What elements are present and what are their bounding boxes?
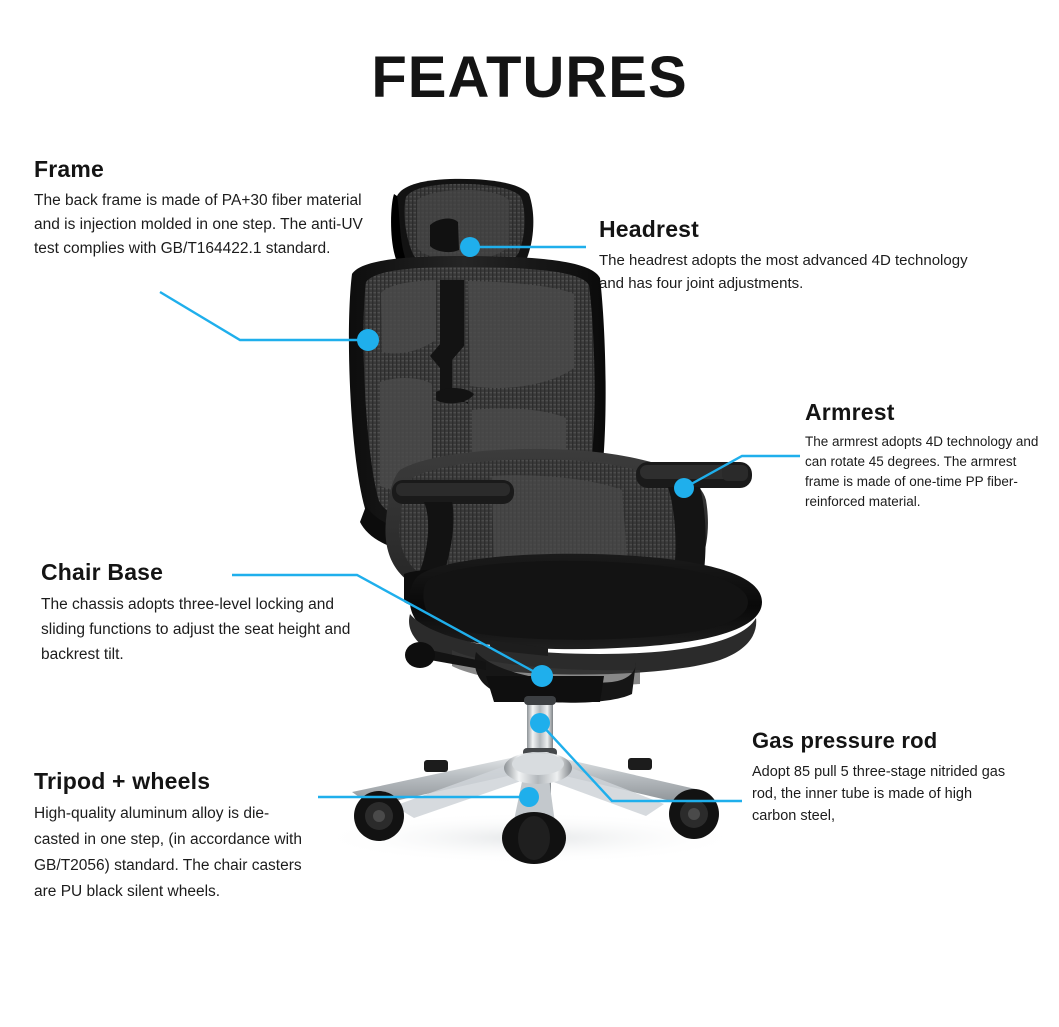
- callout-dot-headrest: [460, 237, 480, 257]
- feature-title-armrest: Armrest: [805, 398, 1045, 426]
- feature-title-chair-base: Chair Base: [41, 558, 361, 586]
- feature-body-gas-pressure-rod: Adopt 85 pull 5 three-stage nitrided gas…: [752, 761, 1017, 827]
- feature-block-tripod-wheels: Tripod + wheels High-quality aluminum al…: [34, 767, 314, 905]
- feature-body-tripod-wheels: High-quality aluminum alloy is die-caste…: [34, 801, 314, 905]
- leader-line-armrest: [684, 456, 800, 488]
- caster-right: [669, 789, 719, 839]
- callout-dot-chair-base: [531, 665, 553, 687]
- chair-seat-part: [405, 554, 762, 703]
- chair-armrest-left-part: [392, 480, 514, 608]
- callout-dot-armrest: [674, 478, 694, 498]
- feature-body-headrest: The headrest adopts the most advanced 4D…: [599, 249, 979, 295]
- caster-front: [502, 812, 566, 864]
- chair-gas-cylinder-part: [523, 696, 557, 812]
- callout-dot-frame: [357, 329, 379, 351]
- feature-block-chair-base: Chair Base The chassis adopts three-leve…: [41, 558, 361, 667]
- callout-dot-tripod: [519, 787, 539, 807]
- features-infographic: FEATURES Frame The back frame is made of…: [0, 0, 1059, 1027]
- chair-base-part: [352, 752, 719, 864]
- feature-body-chair-base: The chassis adopts three-level locking a…: [41, 592, 361, 667]
- feature-title-gas-pressure-rod: Gas pressure rod: [752, 727, 1017, 755]
- chair-backrest-part: [349, 256, 606, 558]
- feature-title-tripod-wheels: Tripod + wheels: [34, 767, 314, 795]
- callout-dot-gas-rod: [530, 713, 550, 733]
- feature-block-gas-pressure-rod: Gas pressure rod Adopt 85 pull 5 three-s…: [752, 727, 1017, 827]
- caster-left: [354, 791, 404, 841]
- chair-armrest-right-part: [636, 462, 752, 616]
- page-title: FEATURES: [0, 46, 1059, 110]
- feature-title-headrest: Headrest: [599, 215, 979, 243]
- chair-lumbar-part: [385, 449, 707, 606]
- feature-body-frame: The back frame is made of PA+30 fiber ma…: [34, 189, 364, 261]
- feature-block-headrest: Headrest The headrest adopts the most ad…: [599, 215, 979, 295]
- feature-block-armrest: Armrest The armrest adopts 4D technology…: [805, 398, 1045, 512]
- feature-body-armrest: The armrest adopts 4D technology and can…: [805, 432, 1045, 512]
- feature-title-frame: Frame: [34, 155, 364, 183]
- leader-line-gas-rod: [540, 723, 742, 801]
- feature-block-frame: Frame The back frame is made of PA+30 fi…: [34, 155, 364, 261]
- chair-headrest-part: [391, 179, 533, 308]
- leader-line-frame: [160, 292, 368, 340]
